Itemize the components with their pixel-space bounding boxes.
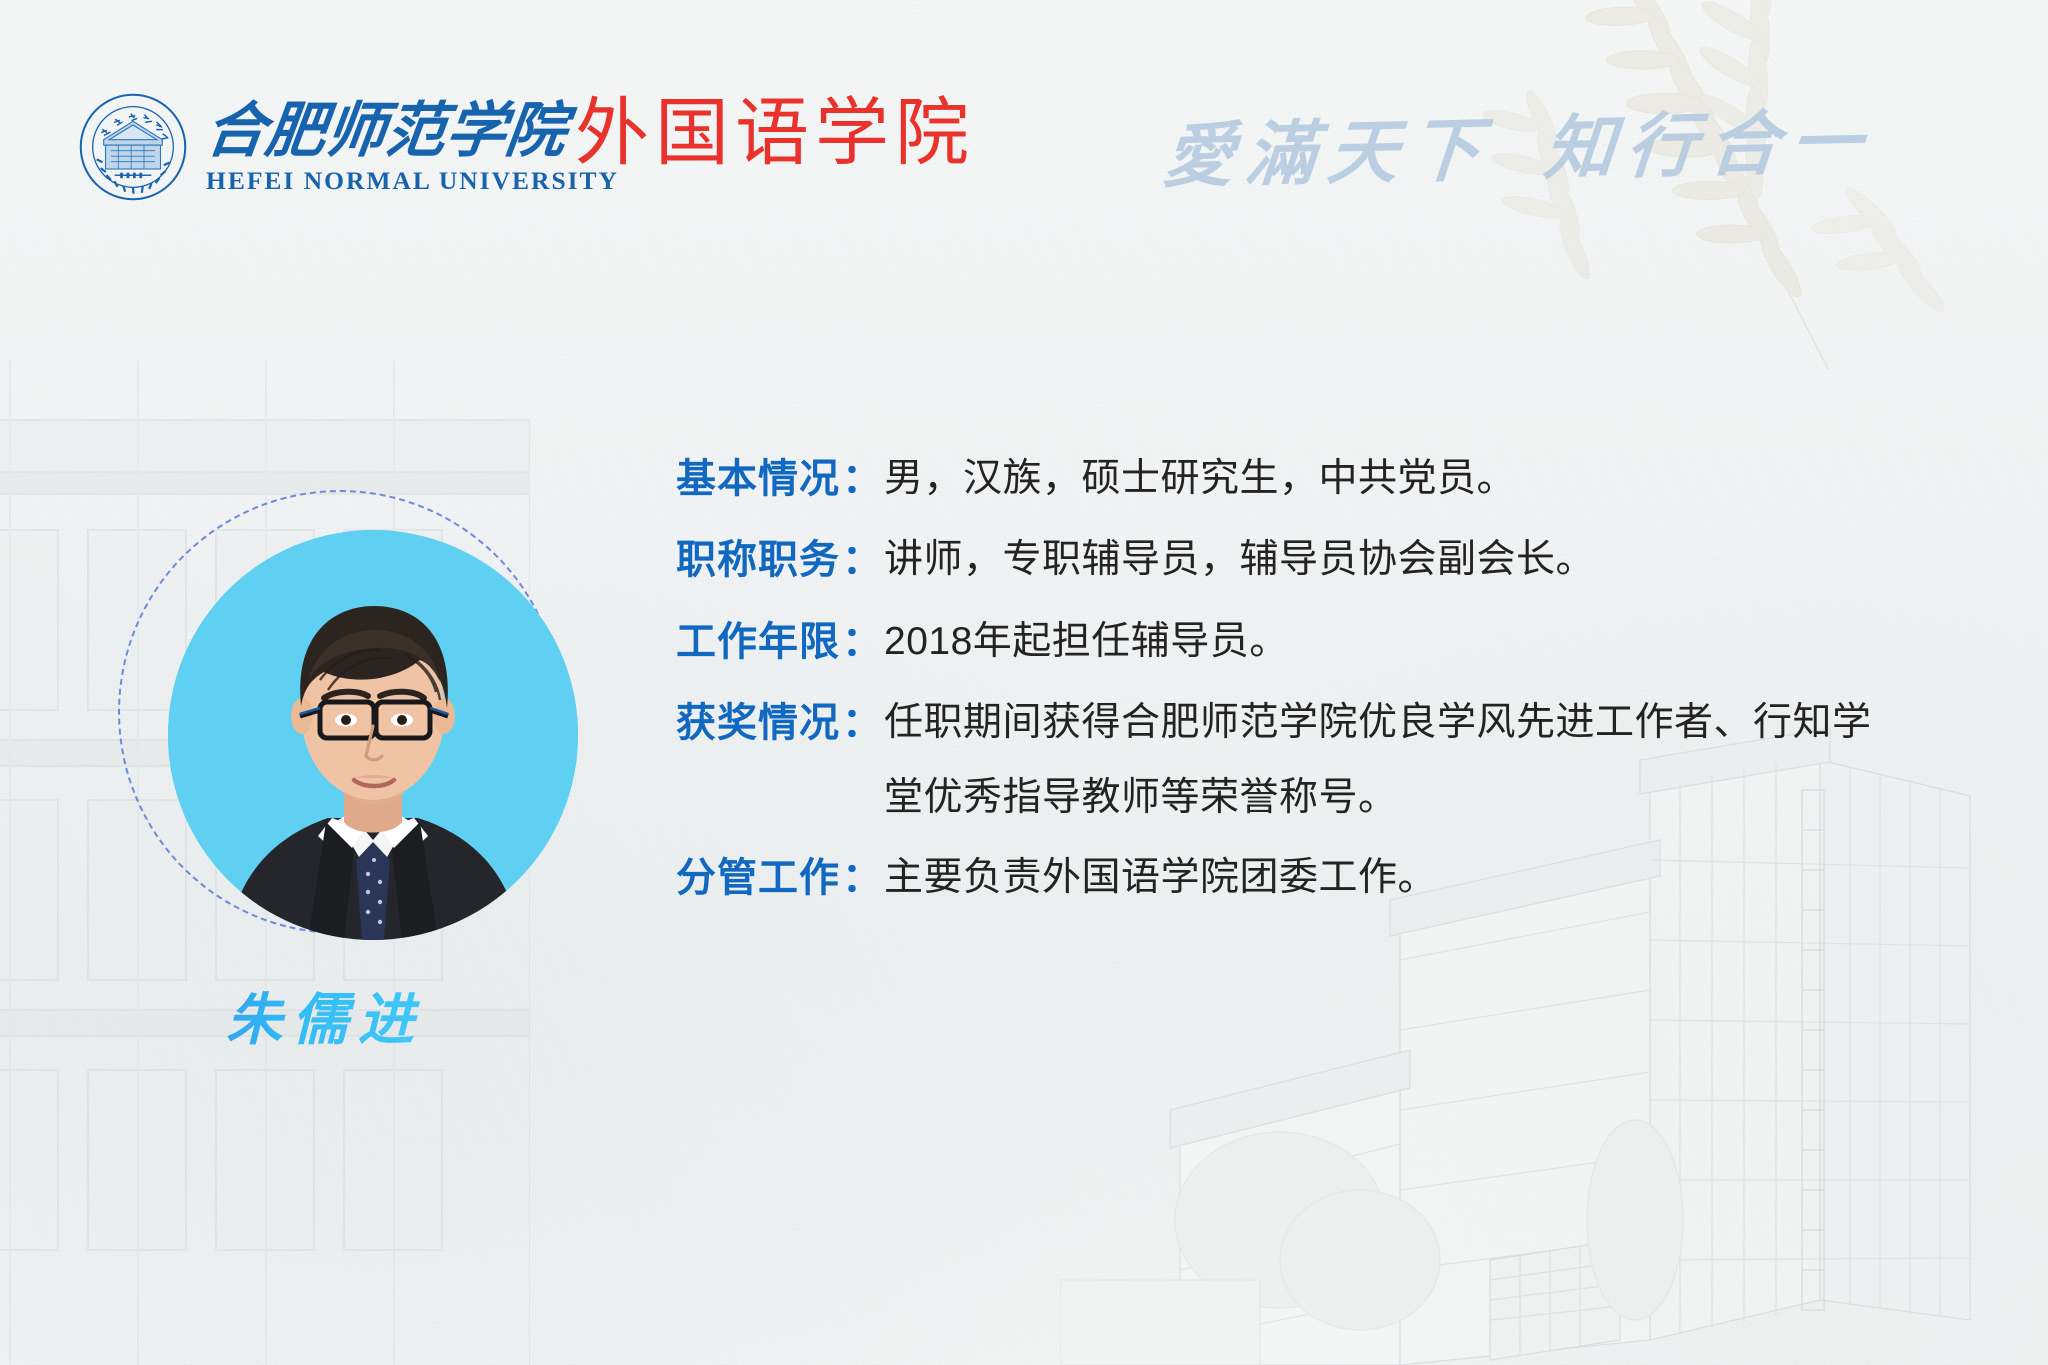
- info-colon: ：: [840, 696, 884, 750]
- school-motto: 愛滿天下知行合一: [1165, 92, 1995, 202]
- info-value: 主要负责外国语学院团委工作。: [884, 851, 1437, 904]
- portrait-photo: [168, 530, 578, 940]
- info-value: 2018年起担任辅导员。: [884, 615, 1289, 668]
- info-row-title-position: 职称职务 ： 讲师，专职辅导员，辅导员协会副会长。: [676, 533, 2006, 587]
- university-seal-icon: [78, 92, 188, 202]
- university-name-en: HEFEI NORMAL UNIVERSITY: [206, 166, 619, 196]
- slide-header: 合肥师范学院 HEFEI NORMAL UNIVERSITY 外国语学院 愛滿天…: [0, 0, 2048, 230]
- info-value-line2: 堂优秀指导教师等荣誉称号。: [884, 771, 1872, 824]
- university-name-cn: 合肥师范学院: [202, 101, 569, 161]
- info-colon: ：: [840, 533, 884, 587]
- info-row-awards: 获奖情况 ： 任职期间获得合肥师范学院优良学风先进工作者、行知学堂优秀指导教师等…: [676, 696, 2006, 824]
- motto-left: 愛滿天下: [1160, 113, 1495, 197]
- slide-canvas: 合肥师范学院 HEFEI NORMAL UNIVERSITY 外国语学院 愛滿天…: [0, 0, 2048, 1365]
- portrait-block: [118, 490, 598, 970]
- info-label: 工作年限: [676, 615, 840, 669]
- info-colon: ：: [840, 452, 884, 506]
- page-title: 外国语学院: [575, 96, 975, 174]
- info-value-multiline: 任职期间获得合肥师范学院优良学风先进工作者、行知学堂优秀指导教师等荣誉称号。: [884, 696, 1872, 824]
- avatar: [168, 530, 578, 940]
- info-label: 基本情况: [676, 452, 840, 506]
- info-value: 男，汉族，硕士研究生，中共党员。: [884, 452, 1516, 505]
- info-value-line1: 任职期间获得合肥师范学院优良学风先进工作者、行知学: [884, 701, 1872, 744]
- info-label: 职称职务: [676, 533, 840, 587]
- info-label: 分管工作: [676, 851, 840, 905]
- info-row-responsibilities: 分管工作 ： 主要负责外国语学院团委工作。: [676, 851, 2006, 905]
- info-row-years-of-service: 工作年限 ： 2018年起担任辅导员。: [676, 615, 2006, 669]
- info-row-basic: 基本情况 ： 男，汉族，硕士研究生，中共党员。: [676, 452, 2006, 506]
- motto-right: 知行合一: [1541, 105, 1876, 189]
- profile-info-list: 基本情况 ： 男，汉族，硕士研究生，中共党员。 职称职务 ： 讲师，专职辅导员，…: [676, 452, 2006, 933]
- motto-spacer: [1490, 173, 1542, 174]
- university-logo: 合肥师范学院 HEFEI NORMAL UNIVERSITY: [78, 92, 619, 202]
- info-colon: ：: [840, 615, 884, 669]
- info-colon: ：: [840, 851, 884, 905]
- motto-line: 愛滿天下知行合一: [1160, 83, 2000, 201]
- logo-wordmark: 合肥师范学院 HEFEI NORMAL UNIVERSITY: [206, 98, 619, 196]
- info-value: 讲师，专职辅导员，辅导员协会副会长。: [884, 533, 1595, 586]
- university-name-cn-calligraphy: 合肥师范学院: [206, 98, 524, 164]
- person-name: 朱儒进: [110, 975, 540, 1056]
- info-label: 获奖情况: [676, 696, 840, 750]
